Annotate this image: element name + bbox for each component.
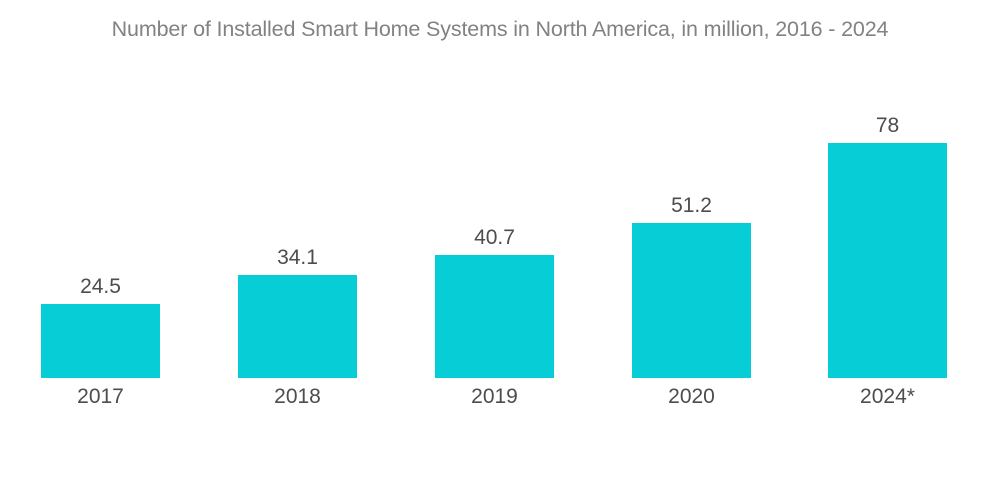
bar-rect-2019[interactable] [435,255,554,378]
bar-group-2024: 78 2024* [828,143,947,378]
bar-label-2019: 2019 [435,385,554,409]
plot-area: 24.5 2017 34.1 2018 40.7 2019 51.2 2020 … [0,0,1000,504]
bar-group-2017: 24.5 2017 [41,304,160,378]
bar-label-2018: 2018 [238,385,357,409]
bar-value-2019: 40.7 [435,226,554,250]
bar-label-2017: 2017 [41,385,160,409]
bar-group-2019: 40.7 2019 [435,255,554,378]
bar-value-2018: 34.1 [238,246,357,270]
bar-label-2024: 2024* [828,385,947,409]
bar-chart: Number of Installed Smart Home Systems i… [0,0,1000,504]
bar-group-2018: 34.1 2018 [238,275,357,378]
bar-value-2020: 51.2 [632,194,751,218]
bar-value-2017: 24.5 [41,275,160,299]
bar-label-2020: 2020 [632,385,751,409]
bar-rect-2017[interactable] [41,304,160,378]
bar-rect-2020[interactable] [632,223,751,378]
bar-rect-2018[interactable] [238,275,357,378]
bar-group-2020: 51.2 2020 [632,223,751,378]
bar-value-2024: 78 [828,114,947,138]
bar-rect-2024[interactable] [828,143,947,378]
